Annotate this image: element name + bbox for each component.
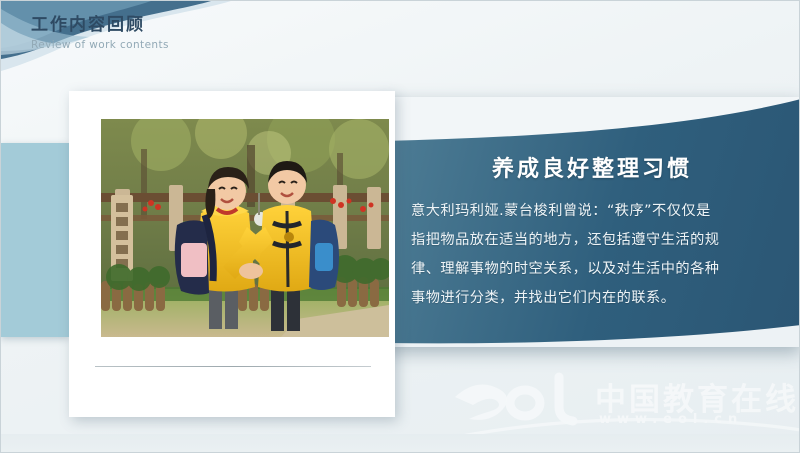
body-line: 意大利玛利娅.蒙台梭利曾说：“秩序”不仅仅是 (411, 197, 785, 226)
body-line: 律、理解事物的时空关系，以及对生活中的各种 (411, 255, 785, 284)
body-line: 指把物品放在适当的地方，还包括遵守生活的规 (411, 226, 785, 255)
content-panel: 养成良好整理习惯 意大利玛利娅.蒙台梭利曾说：“秩序”不仅仅是 指把物品放在适当… (383, 97, 800, 347)
panel-body-text: 意大利玛利娅.蒙台梭利曾说：“秩序”不仅仅是 指把物品放在适当的地方，还包括遵守… (411, 197, 785, 313)
photo-card (69, 91, 395, 417)
eol-logo-icon (447, 369, 597, 435)
card-divider (95, 366, 371, 367)
left-accent-block (1, 143, 69, 337)
page-subtitle: Review of work contents (31, 39, 361, 51)
page-title: 工作内容回顾 (31, 15, 361, 36)
panel-title: 养成良好整理习惯 (383, 151, 800, 183)
watermark-brand: 中国教育在线 (595, 374, 799, 419)
slide-canvas: 工作内容回顾 Review of work contents 养成良好整理习惯 … (0, 0, 800, 453)
photo-image (101, 119, 389, 337)
watermark-url: www.eol.cn (599, 412, 743, 427)
bottom-bar (1, 434, 800, 452)
watermark: 中国教育在线 www.eol.cn (447, 365, 800, 445)
slide-header: 工作内容回顾 Review of work contents (31, 15, 361, 51)
body-line: 事物进行分类，并找出它们内在的联系。 (411, 284, 785, 313)
